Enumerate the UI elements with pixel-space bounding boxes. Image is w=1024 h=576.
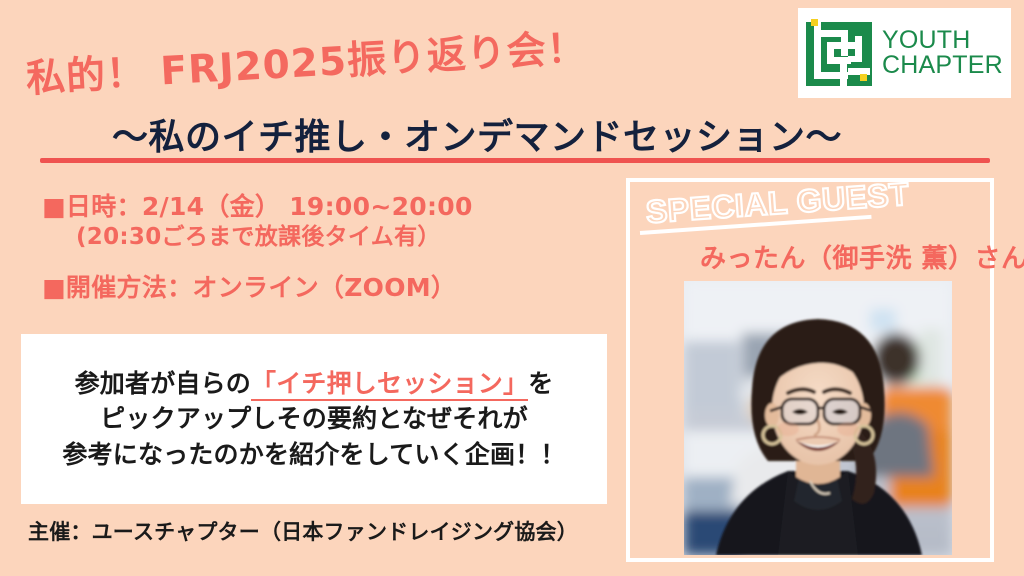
- youth-chapter-logo: YOUTH CHAPTER: [798, 8, 1011, 98]
- detail-datetime: ■日時：2/14（金） 19:00~20:00: [42, 192, 602, 223]
- organizer-footer: 主催：ユースチャプター（日本ファンドレイジング協会）: [28, 516, 578, 546]
- event-details: ■日時：2/14（金） 19:00~20:00 (20:30ごろまで放課後タイム…: [42, 192, 602, 303]
- description-line-1-post: を: [528, 369, 553, 398]
- description-line-1-pre: 参加者が自らの: [75, 369, 251, 398]
- detail-spacer: [42, 251, 602, 273]
- detail-datetime-note: (20:30ごろまで放課後タイム有）: [42, 223, 602, 251]
- page-title: 私的！ FRJ2025振り返り会！: [24, 17, 588, 104]
- flyer-canvas: YOUTH CHAPTER 私的！ FRJ2025振り返り会！ 〜私のイチ推し・…: [0, 0, 1024, 576]
- description-line-1: 参加者が自らの「イチ押しセッション」を: [75, 366, 554, 402]
- guest-photo: [684, 281, 952, 555]
- description-line-3: 参考になったのかを紹介をしていく企画！！: [62, 437, 565, 473]
- description-box: 参加者が自らの「イチ押しセッション」を ピックアップしその要約となぜそれが 参考…: [21, 334, 607, 504]
- logo-line-1: YOUTH: [882, 28, 1003, 54]
- youth-chapter-maze-mark-icon: [802, 16, 876, 90]
- guest-name: みったん（御手洗 薫）さん: [700, 238, 1024, 275]
- logo-wordmark: YOUTH CHAPTER: [882, 28, 1003, 79]
- logo-line-2: CHAPTER: [882, 53, 1003, 79]
- description-highlight: 「イチ押しセッション」: [251, 369, 528, 401]
- detail-format: ■開催方法：オンライン（ZOOM）: [42, 273, 602, 304]
- divider-rule: [40, 158, 990, 163]
- description-line-2: ピックアップしその要約となぜそれが: [100, 401, 528, 437]
- page-subtitle: 〜私のイチ推し・オンデマンドセッション〜: [112, 108, 842, 160]
